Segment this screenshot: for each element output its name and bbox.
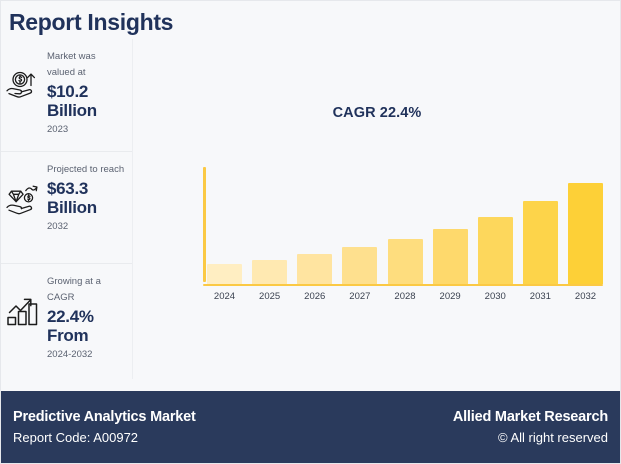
stat-label: Projected to reach [47, 162, 125, 178]
market-forecast-chart: CAGR 22.4% 20242025202620272028202920302… [134, 39, 620, 379]
chart-x-tick-label: 2030 [478, 291, 513, 302]
chart-x-tick-label: 2024 [207, 291, 242, 302]
chart-x-tick-label: 2029 [433, 291, 468, 302]
chart-bar-slot [523, 172, 558, 284]
stat-card-body: Market was valued at $10.2 Billion 2023 [47, 49, 128, 137]
chart-bar-slot [342, 172, 377, 284]
footer-brand-name: Allied Market Research [453, 407, 608, 428]
chart-bars [207, 172, 603, 284]
chart-bar-slot [568, 172, 603, 284]
chart-bar [342, 247, 377, 284]
chart-x-tick-labels: 202420252026202720282029203020312032 [207, 291, 603, 302]
page-title: Report Insights [9, 9, 173, 36]
chart-bar [297, 254, 332, 284]
stat-value: 22.4% From [47, 307, 128, 345]
stat-label: Growing at a CAGR [47, 274, 125, 306]
stat-card-body: Projected to reach $63.3 Billion 2032 [47, 162, 128, 234]
chart-x-tick-label: 2032 [568, 291, 603, 302]
report-insights-infographic: Report Insights [0, 0, 621, 464]
bar-chart-growth-arrow-icon [3, 290, 45, 332]
chart-bar [523, 201, 558, 284]
insights-sidebar: Market was valued at $10.2 Billion 2023 [1, 39, 133, 379]
chart-bar [433, 229, 468, 284]
footer-report-code: Report Code: A00972 [13, 428, 196, 448]
footer-bar: Predictive Analytics Market Report Code:… [1, 391, 620, 463]
chart-bar [252, 260, 287, 285]
chart-bar [478, 217, 513, 284]
stat-card-cagr: Growing at a CAGR 22.4% From 2024-2032 [1, 263, 132, 375]
chart-x-tick-label: 2026 [297, 291, 332, 302]
chart-x-tick-label: 2028 [388, 291, 423, 302]
chart-bar-slot [252, 172, 287, 284]
chart-bar [568, 183, 603, 284]
stat-value: $63.3 Billion [47, 179, 128, 217]
chart-bar [207, 264, 242, 284]
stat-sub: 2024-2032 [47, 347, 128, 362]
chart-bar-slot [207, 172, 242, 284]
stat-card-market-value: Market was valued at $10.2 Billion 2023 [1, 39, 132, 151]
hand-holding-diamond-dollar-arrow-up-icon [3, 178, 45, 220]
footer-report-info: Predictive Analytics Market Report Code:… [13, 407, 196, 448]
hand-holding-dollar-coin-arrow-up-icon [3, 65, 45, 107]
footer-brand-info: Allied Market Research © All right reser… [453, 407, 608, 448]
footer-copyright: © All right reserved [453, 428, 608, 448]
stat-label: Market was valued at [47, 49, 125, 81]
stat-card-projected-value: Projected to reach $63.3 Billion 2032 [1, 151, 132, 263]
chart-bar-slot [388, 172, 423, 284]
chart-title: CAGR 22.4% [134, 105, 620, 121]
chart-bar-slot [297, 172, 332, 284]
chart-plot-area: 202420252026202720282029203020312032 [194, 167, 606, 289]
chart-bar-slot [433, 172, 468, 284]
stat-sub: 2023 [47, 122, 128, 137]
chart-x-tick-label: 2025 [252, 291, 287, 302]
chart-y-axis [203, 167, 206, 282]
stat-sub: 2032 [47, 219, 128, 234]
stat-value: $10.2 Billion [47, 82, 128, 120]
chart-bar [388, 239, 423, 284]
chart-bar-slot [478, 172, 513, 284]
stat-card-body: Growing at a CAGR 22.4% From 2024-2032 [47, 274, 128, 362]
chart-x-tick-label: 2031 [523, 291, 558, 302]
footer-report-name: Predictive Analytics Market [13, 407, 196, 428]
chart-x-tick-label: 2027 [342, 291, 377, 302]
